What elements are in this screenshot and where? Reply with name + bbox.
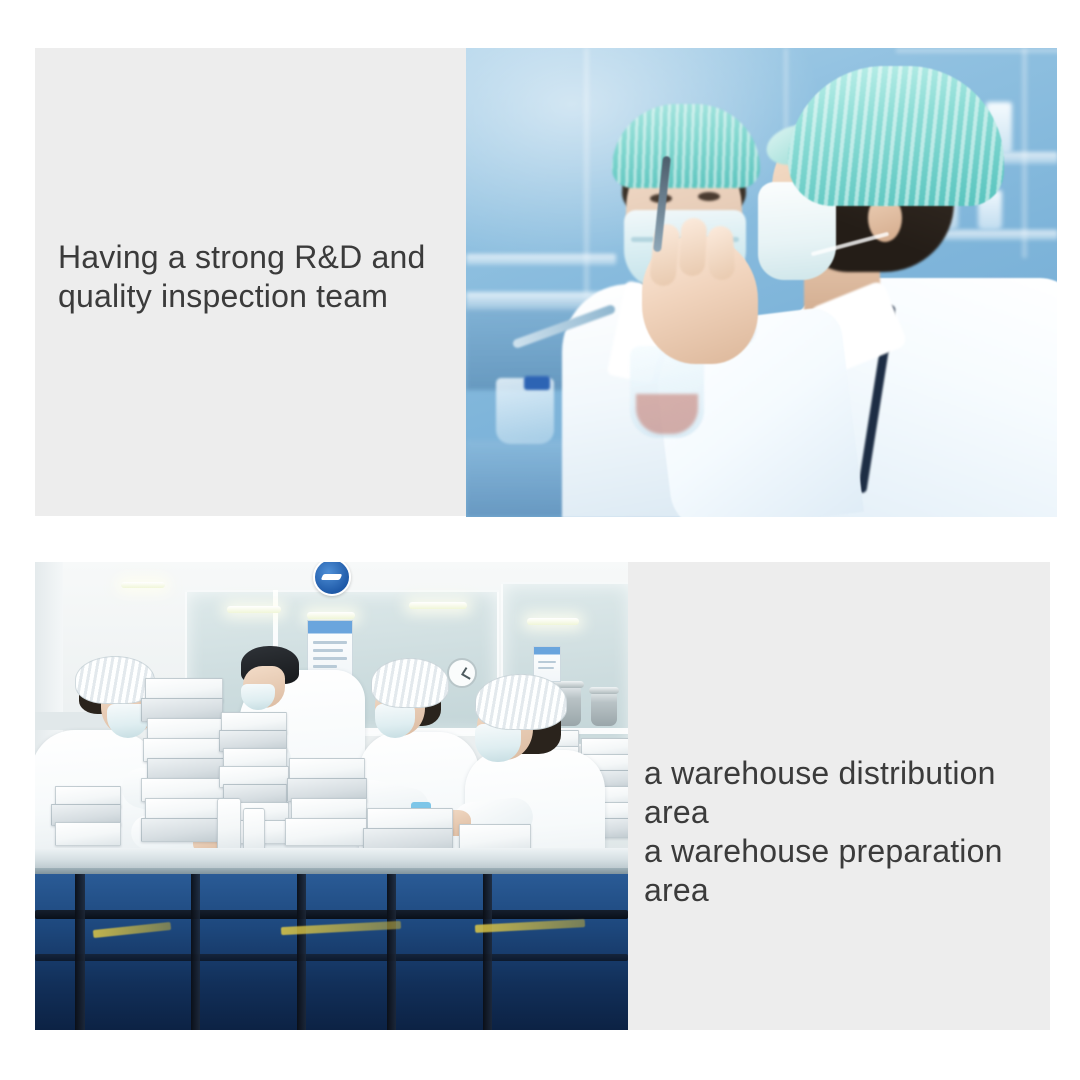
- poster-text-line: [313, 657, 347, 660]
- ceiling-light: [527, 618, 579, 625]
- lab-bottle-cap: [524, 376, 550, 390]
- poster-text-line: [313, 649, 343, 652]
- table-rail: [35, 910, 628, 919]
- product-box: [285, 818, 367, 846]
- poster-text-line: [538, 661, 556, 663]
- wall-clock: [447, 658, 477, 688]
- table-leg: [297, 874, 306, 1030]
- lab-shelf: [466, 254, 616, 265]
- warehouse-caption-panel: a warehouse distribution area a warehous…: [628, 562, 1050, 1030]
- ceiling-light: [409, 602, 467, 609]
- stainless-canister: [591, 692, 617, 726]
- table-leg: [75, 874, 85, 1030]
- table-leg: [387, 874, 396, 1030]
- poster-text-line: [313, 665, 337, 668]
- table-leg: [191, 874, 200, 1030]
- ceiling-light: [227, 606, 281, 613]
- product-box: [141, 818, 225, 842]
- rnd-caption-panel: Having a strong R&D and quality inspecti…: [35, 48, 467, 516]
- poster-text-line: [313, 641, 347, 644]
- warehouse-caption-text: a warehouse distribution area a warehous…: [644, 754, 1044, 910]
- ceiling-light: [121, 582, 165, 588]
- rnd-caption-text: Having a strong R&D and quality inspecti…: [58, 238, 450, 316]
- lab-ceiling-seam: [896, 48, 1057, 53]
- ceiling-light: [307, 612, 355, 619]
- warehouse-worker-hairnet: [475, 674, 567, 730]
- lab-finger: [679, 217, 708, 276]
- lab-back-worker-eye: [698, 192, 720, 201]
- warehouse-packing-photo: [35, 562, 628, 1030]
- lab-finger: [707, 225, 736, 280]
- lab-inspection-photo: [466, 48, 1057, 517]
- table-leg: [483, 874, 492, 1030]
- poster-text-line: [538, 667, 554, 669]
- product-box: [55, 822, 121, 846]
- table-rail: [35, 954, 628, 961]
- packing-table-understructure: [35, 874, 628, 1030]
- warehouse-worker-hairnet: [371, 658, 449, 708]
- product-bottle: [217, 798, 241, 854]
- warehouse-worker-hairnet: [75, 656, 155, 704]
